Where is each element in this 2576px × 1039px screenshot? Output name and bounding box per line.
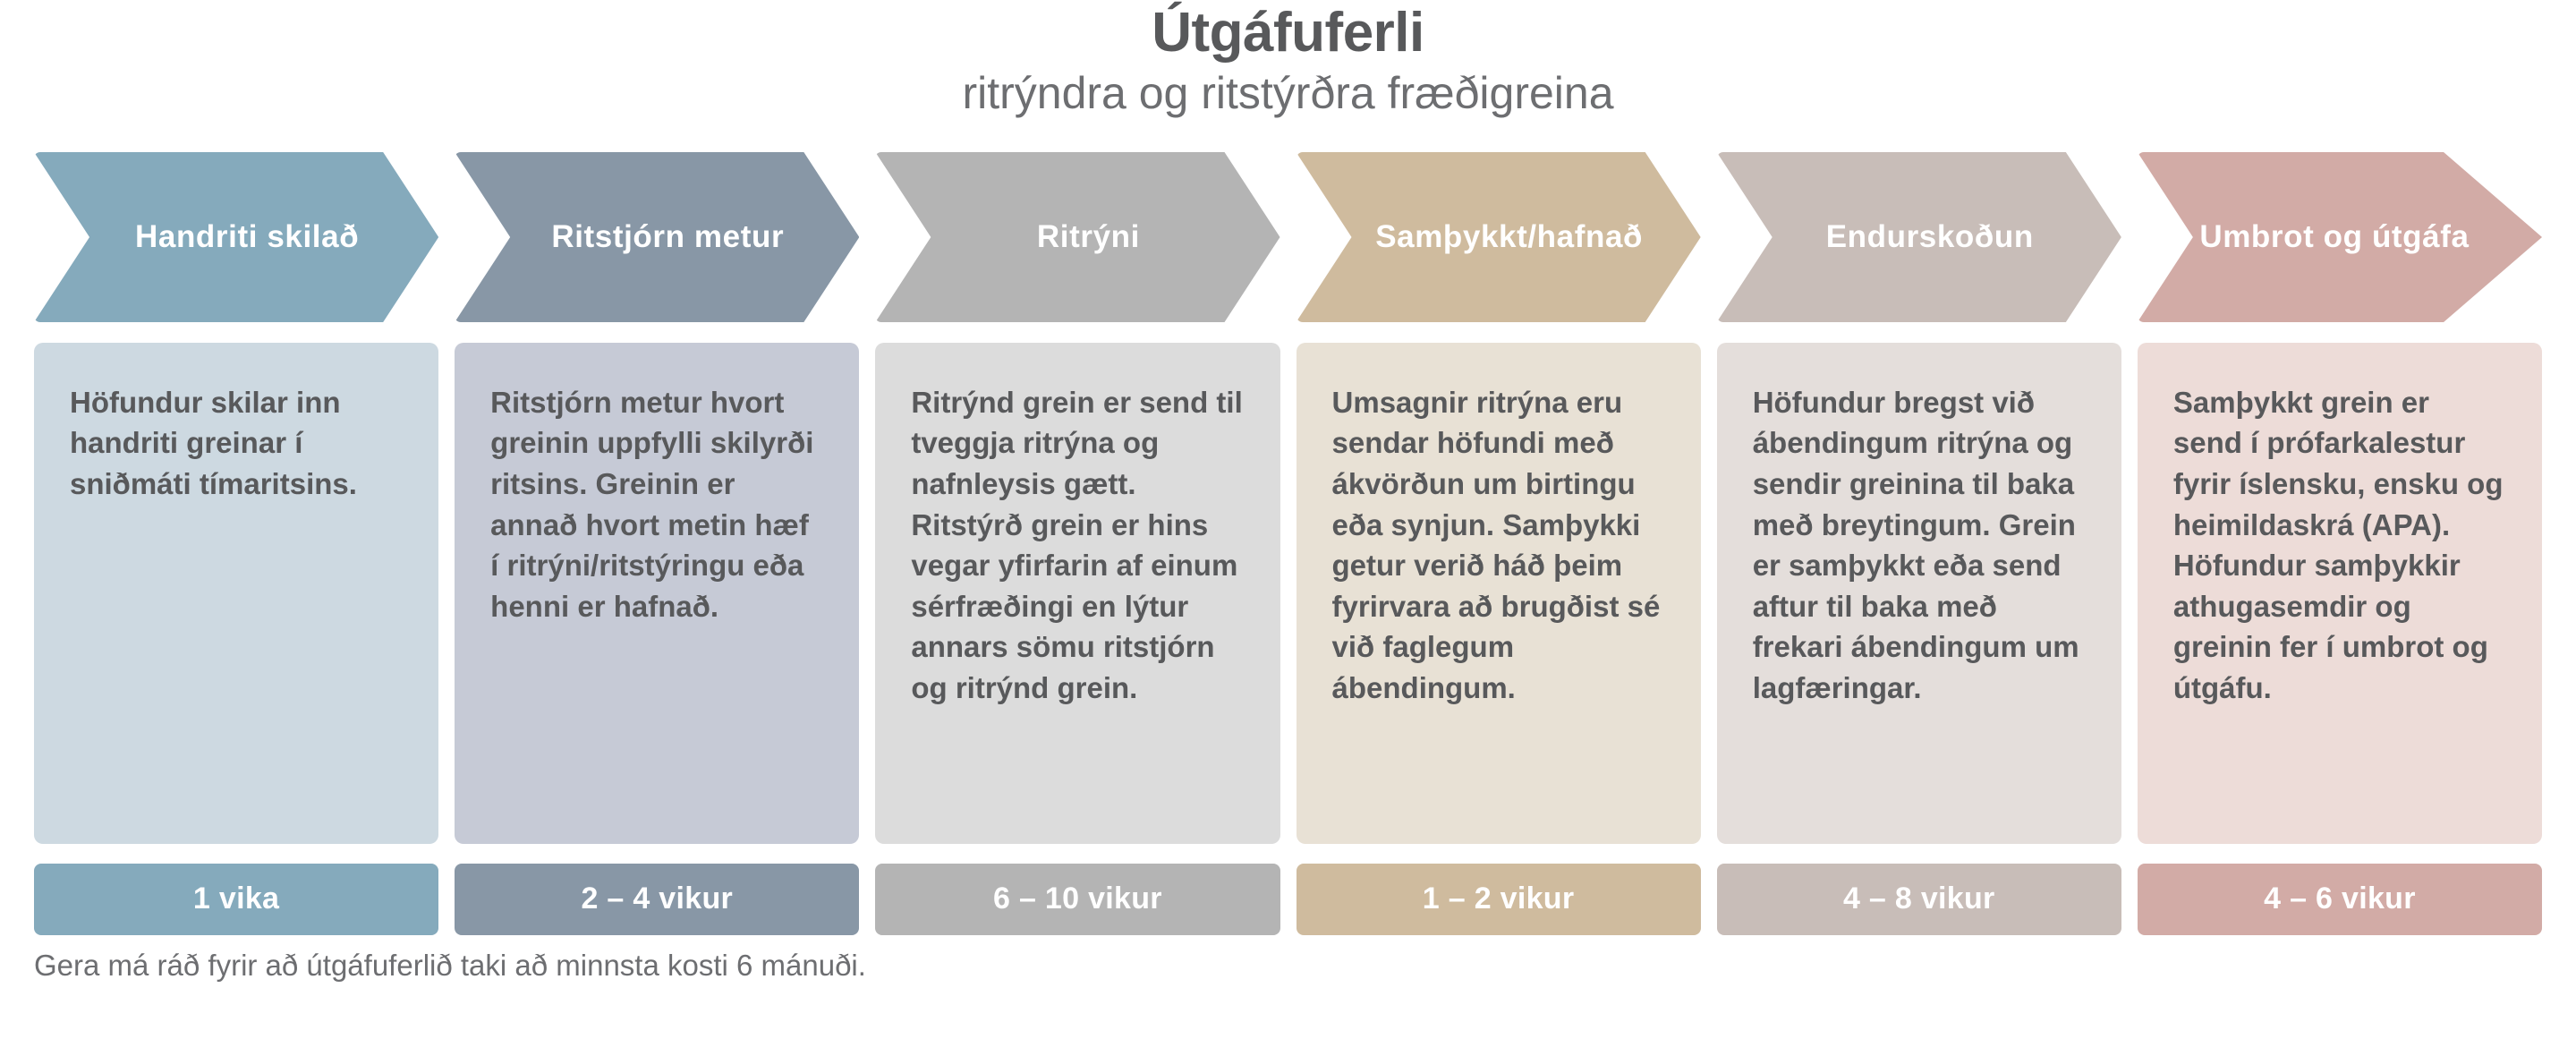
page-subtitle: ritrýndra og ritstýrðra fræðigreina <box>0 67 2576 120</box>
stage-card-1: Höfundur skilar inn handriti greinar í s… <box>34 343 438 844</box>
stage-chevron-label-2: Ritstjórn metur <box>551 219 784 255</box>
stage-chevron-label-1: Handriti skilað <box>135 219 359 255</box>
stage-duration-row: 1 vika 2 – 4 vikur 6 – 10 vikur 1 – 2 vi… <box>34 864 2542 935</box>
stage-duration-label-1: 1 vika <box>193 881 279 916</box>
stage-description-6: Samþykkt grein er send í prófarkalestur … <box>2173 382 2506 708</box>
stage-description-3: Ritrýnd grein er send til tveggja ritrýn… <box>911 382 1244 708</box>
stage-chevron-5[interactable]: Endurskoðun <box>1717 152 2121 322</box>
stage-chevron-6[interactable]: Umbrot og útgáfa <box>2138 152 2542 322</box>
footnote: Gera má ráð fyrir að útgáfuferlið taki a… <box>0 948 2576 984</box>
stage-duration-label-4: 1 – 2 vikur <box>1423 881 1575 916</box>
stage-duration-1: 1 vika <box>34 864 438 935</box>
stage-description-4: Umsagnir ritrýna eru sendar höfundi með … <box>1332 382 1665 708</box>
stage-duration-5: 4 – 8 vikur <box>1717 864 2121 935</box>
stage-description-row: Höfundur skilar inn handriti greinar í s… <box>34 343 2542 844</box>
stage-card-6: Samþykkt grein er send í prófarkalestur … <box>2138 343 2542 844</box>
stage-duration-label-3: 6 – 10 vikur <box>993 881 1162 916</box>
stage-card-4: Umsagnir ritrýna eru sendar höfundi með … <box>1297 343 1701 844</box>
stage-chevron-label-4: Samþykkt/hafnað <box>1375 219 1643 255</box>
stage-duration-3: 6 – 10 vikur <box>875 864 1279 935</box>
stage-chevron-4[interactable]: Samþykkt/hafnað <box>1297 152 1701 322</box>
stage-duration-label-6: 4 – 6 vikur <box>2264 881 2416 916</box>
stage-description-2: Ritstjórn metur hvort greinin uppfylli s… <box>490 382 823 626</box>
publication-process-flow: Handriti skilað Ritstjórn metur Ritrýni … <box>0 152 2576 935</box>
stage-card-5: Höfundur bregst við ábendingum ritrýna o… <box>1717 343 2121 844</box>
stage-chevron-label-3: Ritrýni <box>1037 219 1140 255</box>
stage-card-2: Ritstjórn metur hvort greinin uppfylli s… <box>455 343 859 844</box>
stage-duration-2: 2 – 4 vikur <box>455 864 859 935</box>
stage-duration-label-5: 4 – 8 vikur <box>1843 881 1995 916</box>
stage-chevron-row: Handriti skilað Ritstjórn metur Ritrýni … <box>34 152 2542 322</box>
stage-chevron-3[interactable]: Ritrýni <box>875 152 1279 322</box>
stage-chevron-label-5: Endurskoðun <box>1826 219 2034 255</box>
page-title: Útgáfuferli <box>0 4 2576 64</box>
stage-duration-4: 1 – 2 vikur <box>1297 864 1701 935</box>
stage-card-3: Ritrýnd grein er send til tveggja ritrýn… <box>875 343 1279 844</box>
stage-description-1: Höfundur skilar inn handriti greinar í s… <box>70 382 403 505</box>
stage-description-5: Höfundur bregst við ábendingum ritrýna o… <box>1753 382 2086 708</box>
stage-chevron-label-6: Umbrot og útgáfa <box>2199 219 2469 255</box>
stage-duration-label-2: 2 – 4 vikur <box>581 881 733 916</box>
stage-chevron-1[interactable]: Handriti skilað <box>34 152 438 322</box>
stage-chevron-2[interactable]: Ritstjórn metur <box>455 152 859 322</box>
stage-duration-6: 4 – 6 vikur <box>2138 864 2542 935</box>
diagram-header: Útgáfuferli ritrýndra og ritstýrðra fræð… <box>0 0 2576 120</box>
